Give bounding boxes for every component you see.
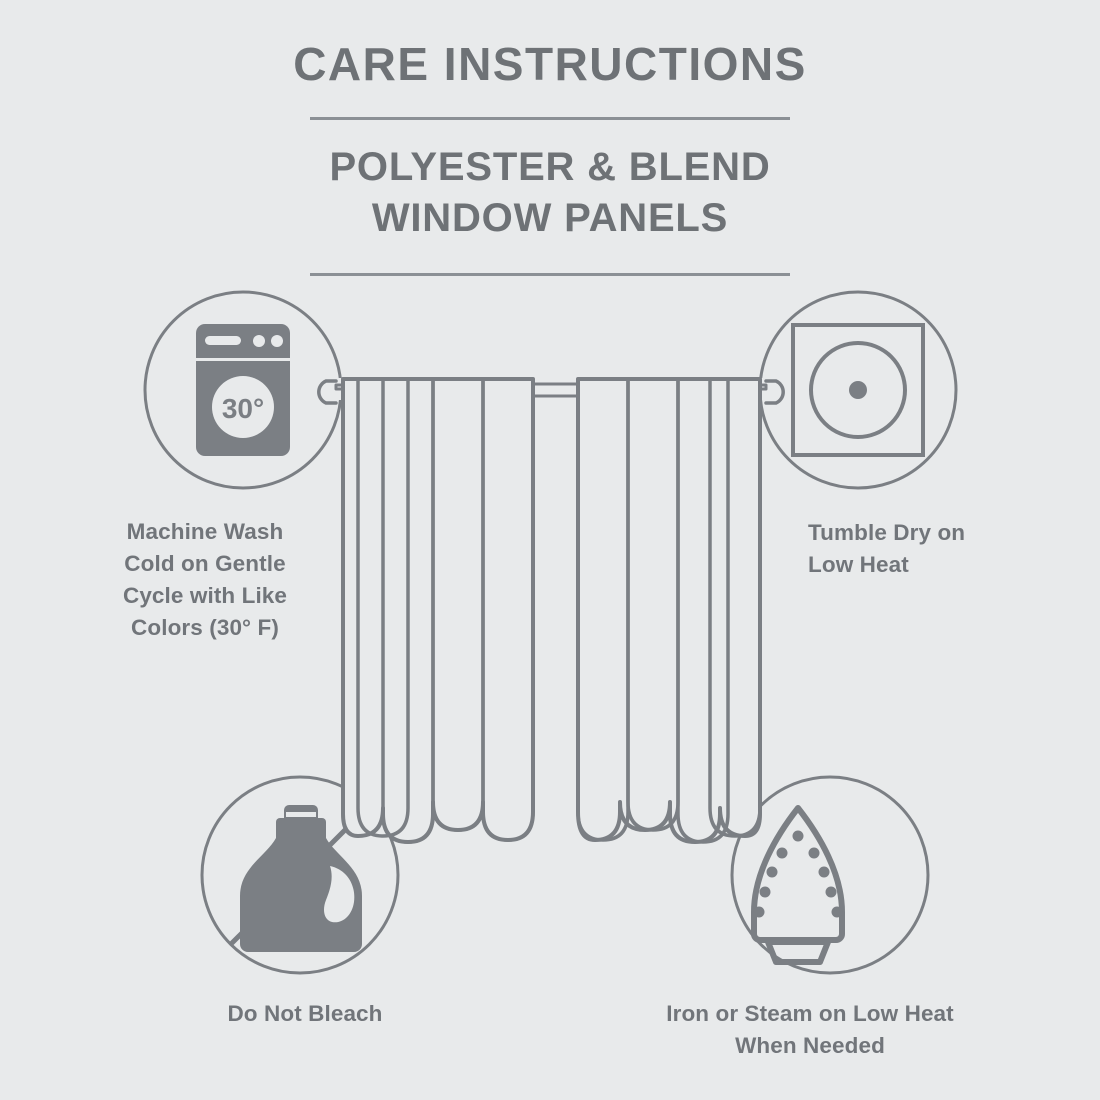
caption-iron: Iron or Steam on Low Heat When Needed <box>600 998 1020 1062</box>
caption-line: Do Not Bleach <box>160 998 450 1030</box>
caption-line: Low Heat <box>808 549 1068 581</box>
washer-panel-slot <box>205 336 241 345</box>
caption-do-not-bleach: Do Not Bleach <box>160 998 450 1030</box>
caption-line: Iron or Steam on Low Heat <box>600 998 1020 1030</box>
iron-steam-hole <box>767 867 778 878</box>
washer-knob-left <box>253 335 265 347</box>
caption-line: Cold on Gentle <box>66 548 344 580</box>
washing-machine-icon: 30° <box>196 324 290 456</box>
iron-base <box>768 942 828 962</box>
iron-steam-hole <box>754 907 765 918</box>
iron-steam-hole <box>777 848 788 859</box>
left-finial-hook <box>319 381 336 403</box>
iron-steam-hole <box>760 887 771 898</box>
caption-line: Colors (30° F) <box>66 612 344 644</box>
washer-panel-divider <box>196 358 290 361</box>
left-curtain-panel <box>343 379 533 842</box>
caption-machine-wash: Machine Wash Cold on Gentle Cycle with L… <box>66 516 344 644</box>
right-panel-outline <box>578 379 760 842</box>
iron-steam-hole <box>832 907 843 918</box>
washer-knob-right <box>271 335 283 347</box>
bleach-cap-groove <box>286 812 316 817</box>
iron-steam-hole <box>826 887 837 898</box>
caption-tumble-dry: Tumble Dry on Low Heat <box>808 517 1068 581</box>
iron-steam-hole <box>819 867 830 878</box>
left-panel-outline <box>343 379 533 842</box>
iron-icon <box>754 808 843 962</box>
caption-line: Tumble Dry on <box>808 517 1068 549</box>
tumble-dry-low-icon <box>793 325 923 455</box>
tumble-dry-low-heat-dot <box>849 381 867 399</box>
iron-steam-hole <box>809 848 820 859</box>
right-curtain-panel <box>578 379 760 842</box>
caption-line: When Needed <box>600 1030 1020 1062</box>
care-instructions-infographic: CARE INSTRUCTIONS POLYESTER & BLEND WIND… <box>0 0 1100 1100</box>
iron-steam-hole <box>793 831 804 842</box>
caption-line: Cycle with Like <box>66 580 344 612</box>
symbol-circle-tumble-dry <box>760 292 956 488</box>
caption-line: Machine Wash <box>66 516 344 548</box>
washer-temperature-label: 30° <box>222 393 264 424</box>
right-finial-hook <box>766 381 783 403</box>
bleach-bottle-neck <box>276 818 326 838</box>
symbol-circle-machine-wash: 30° <box>145 292 341 488</box>
